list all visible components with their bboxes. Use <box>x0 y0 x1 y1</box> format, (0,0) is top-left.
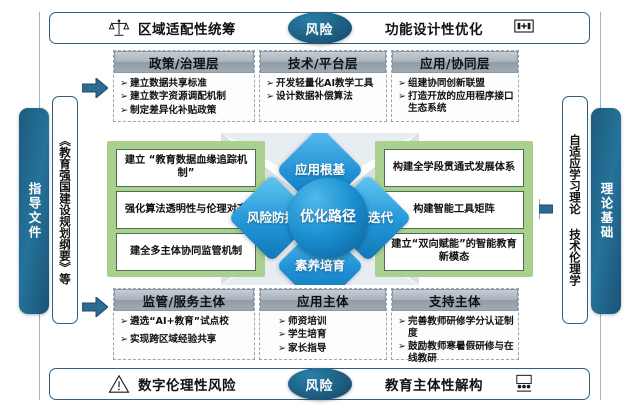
column-policy: 政策/治理层 ➢ 建立数据共享标准 ➢ 建立数字资源调配机制 ➢ 制定差异化补贴… <box>113 50 255 122</box>
list-item: ➢ 打造开放的应用程序接口生态系统 <box>398 91 514 115</box>
bottom-risk-badge: 风险 <box>288 368 352 400</box>
arrow-right-bottom <box>82 297 108 321</box>
bullet-marker-icon: ➢ <box>398 78 406 90</box>
column-technology: 技术/平台层 ➢ 开发轻量化AI教学工具 ➢ 设计数据补偿算法 <box>259 50 387 122</box>
bullet-marker-icon: ➢ <box>120 334 128 346</box>
column-support-subject-title: 支持主体 <box>392 289 518 311</box>
top-banner-left-text: 区域适配性统筹 <box>138 18 236 38</box>
list-item: ➢ 学生培育 <box>278 329 382 341</box>
bullet-marker-icon: ➢ <box>120 91 128 103</box>
list-item: ➢ 建立数据共享标准 <box>120 78 250 90</box>
bullet-marker-icon: ➢ <box>278 316 286 328</box>
list-item: ➢ 组建协同创新联盟 <box>398 78 514 90</box>
list-item: ➢ 遴选“AI+教育”试点校 <box>120 316 250 328</box>
arrow-right-top <box>82 78 108 102</box>
column-regulation-subject: 监管/服务主体 ➢ 遴选“AI+教育”试点校 ➢ 实现跨区域经验共享 <box>113 288 255 360</box>
bottom-banner-right-text: 教育主体性解构 <box>385 374 483 394</box>
right-measure-card: 构建全学段贯通式发展体系 <box>384 149 524 187</box>
left-rail-pill: 指导文件 <box>19 108 49 314</box>
left-rail-document-label: 《教育强国建设规划纲要》等 <box>59 135 71 285</box>
column-policy-body: ➢ 建立数据共享标准 ➢ 建立数字资源调配机制 ➢ 制定差异化补贴政策 <box>114 73 254 121</box>
right-rail-pill: 理论基础 <box>591 108 621 314</box>
list-item: ➢ 家长指导 <box>278 343 382 355</box>
core-circle-label: 优化路径 <box>300 210 356 226</box>
left-measure-card: 建全多主体协同监管机制 <box>116 233 256 271</box>
diagram-canvas: 区域适配性统筹 功能设计性优化 风险 <box>0 0 640 412</box>
column-support-subject-body: ➢ 完善教师研修学分认证制度 ➢ 鼓励教师寒暑假研修与在线教研 <box>392 311 518 359</box>
right-rail-document: 自适应学习理论 技术伦理学 <box>562 96 588 324</box>
list-item: ➢ 设计数据补偿算法 <box>266 91 382 103</box>
column-application: 应用/协同层 ➢ 组建协同创新联盟 ➢ 打造开放的应用程序接口生态系统 <box>391 50 519 122</box>
column-application-title: 应用/协同层 <box>392 51 518 73</box>
bullet-marker-icon: ➢ <box>120 316 128 328</box>
bottom-risk-label: 风险 <box>305 375 333 394</box>
top-banner: 区域适配性统筹 功能设计性优化 风险 <box>49 12 590 44</box>
column-policy-title: 政策/治理层 <box>114 51 254 73</box>
bottom-banner-left-text: 数字伦理性风险 <box>138 374 236 394</box>
bullet-marker-icon: ➢ <box>278 343 286 355</box>
bullet-marker-icon: ➢ <box>398 91 406 115</box>
left-rail-pill-label: 指导文件 <box>25 182 44 240</box>
list-item: ➢ 开发轻量化AI教学工具 <box>266 78 382 90</box>
classroom-icon <box>513 374 535 394</box>
warning-triangle-icon <box>108 374 130 394</box>
column-regulation-subject-body: ➢ 遴选“AI+教育”试点校 ➢ 实现跨区域经验共享 <box>114 311 254 359</box>
top-banner-right-text: 功能设计性优化 <box>385 18 483 38</box>
center-stage: 建立 “教育数据血缘追踪机制” 强化算法透明性与伦理对齐 建全多主体协同监管机制… <box>101 133 539 285</box>
right-rail-document-label: 自适应学习理论 技术伦理学 <box>569 134 581 286</box>
left-measure-card: 建立 “教育数据血缘追踪机制” <box>116 149 256 187</box>
list-item: ➢ 建立数字资源调配机制 <box>120 91 250 103</box>
column-application-subject-body: ➢ 师资培训 ➢ 学生培育 ➢ 家长指导 <box>260 311 386 359</box>
slide-projector-icon <box>513 18 535 38</box>
bullet-marker-icon: ➢ <box>120 78 128 90</box>
left-rail-document: 《教育强国建设规划纲要》等 <box>52 96 78 324</box>
list-item: ➢ 制定差异化补贴政策 <box>120 105 250 117</box>
bullet-marker-icon: ➢ <box>120 105 128 117</box>
column-support-subject: 支持主体 ➢ 完善教师研修学分认证制度 ➢ 鼓励教师寒暑假研修与在线教研 <box>391 288 519 360</box>
list-item: ➢ 鼓励教师寒暑假研修与在线教研 <box>398 341 514 365</box>
bottom-banner: 数字伦理性风险 教育主体性解构 风险 <box>49 368 590 400</box>
column-technology-title: 技术/平台层 <box>260 51 386 73</box>
list-item: ➢ 实现跨区域经验共享 <box>120 334 250 346</box>
column-regulation-subject-title: 监管/服务主体 <box>114 289 254 311</box>
right-measure-card: 建立“双向赋能”的智能教育新模态 <box>384 233 524 271</box>
bullet-marker-icon: ➢ <box>398 341 406 365</box>
balance-scales-icon <box>108 18 130 38</box>
bullet-marker-icon: ➢ <box>266 91 274 103</box>
bullet-marker-icon: ➢ <box>278 329 286 341</box>
bullet-marker-icon: ➢ <box>266 78 274 90</box>
right-rail-pill-label: 理论基础 <box>597 182 616 240</box>
top-risk-label: 风险 <box>305 19 333 38</box>
column-application-subject: 应用主体 ➢ 师资培训 ➢ 学生培育 ➢ 家长指导 <box>259 288 387 360</box>
column-application-subject-title: 应用主体 <box>260 289 386 311</box>
column-application-body: ➢ 组建协同创新联盟 ➢ 打造开放的应用程序接口生态系统 <box>392 73 518 121</box>
core-circle: 优化路径 <box>288 178 368 258</box>
bullet-marker-icon: ➢ <box>398 316 406 340</box>
column-technology-body: ➢ 开发轻量化AI教学工具 ➢ 设计数据补偿算法 <box>260 73 386 121</box>
top-risk-badge: 风险 <box>288 12 352 44</box>
list-item: ➢ 师资培训 <box>278 316 382 328</box>
list-item: ➢ 完善教师研修学分认证制度 <box>398 316 514 340</box>
